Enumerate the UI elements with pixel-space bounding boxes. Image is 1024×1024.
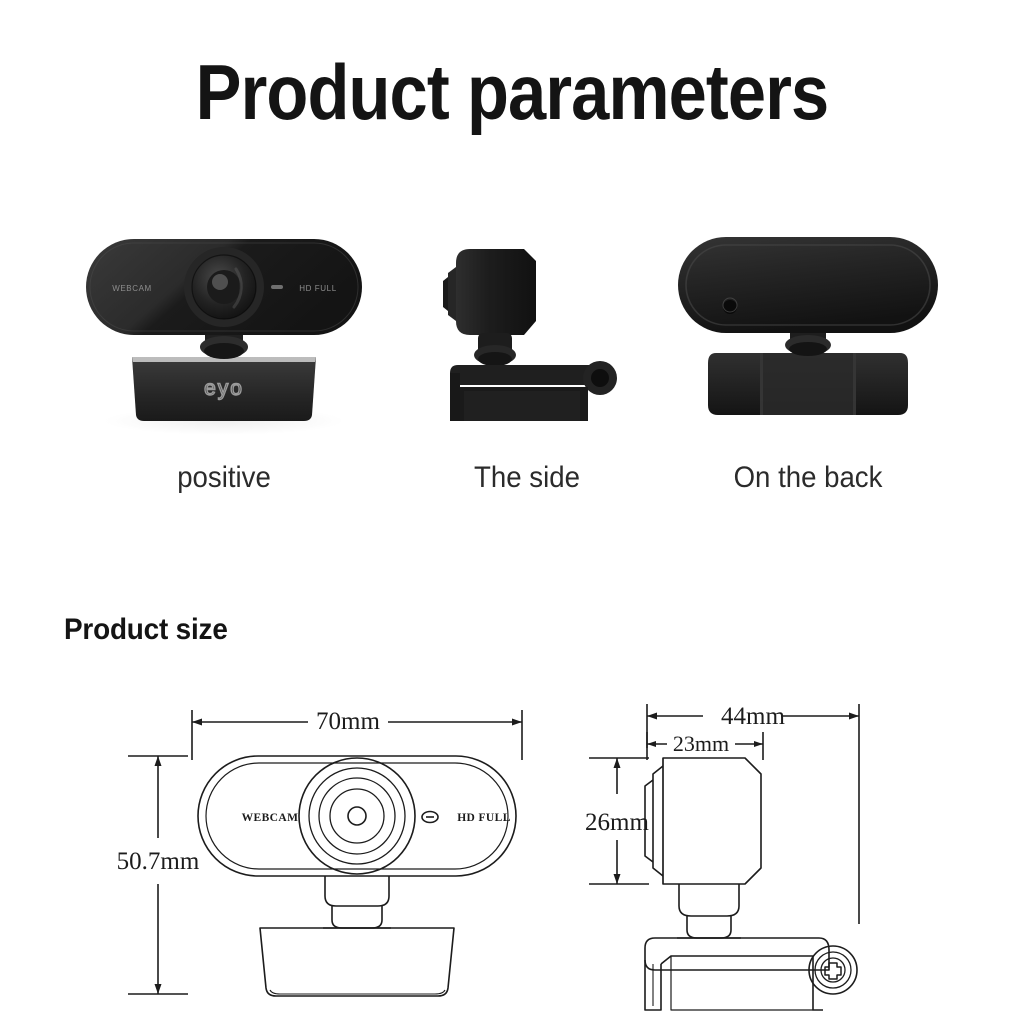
front-photo-stage: eyo WEBCAM HD FU	[74, 225, 374, 440]
mic-icon	[271, 285, 283, 289]
front-drawing-hdfull-label: HD FULL	[457, 812, 511, 824]
product-view-back: On the back	[668, 225, 948, 495]
back-photo-stage	[668, 225, 948, 440]
front-elevation-drawing: WEBCAM HD FULL 70mm 50.7mm	[110, 688, 560, 1024]
front-drawing-mic-icon	[422, 812, 438, 823]
product-size-heading: Product size	[64, 612, 228, 648]
webcam-side-photo-icon	[412, 225, 642, 440]
dimension-label-height: 50.7mm	[117, 848, 200, 875]
dimension-label-body-depth: 23mm	[673, 731, 729, 756]
product-view-back-caption: On the back	[679, 461, 937, 495]
phillips-screw-icon	[825, 963, 841, 979]
webcam-side-line-drawing-icon: 44mm 23mm 26mm	[575, 688, 895, 1024]
webcam-front-photo-icon: eyo WEBCAM HD FU	[74, 225, 374, 440]
front-photo-hdfull-label: HD FULL	[299, 284, 337, 293]
side-photo-stage	[412, 225, 642, 440]
front-drawing-webcam-label: WEBCAM	[242, 812, 299, 824]
product-view-side-caption: The side	[421, 461, 633, 495]
product-view-side: The side	[412, 225, 642, 495]
dimension-label-width: 70mm	[316, 708, 380, 735]
webcam-back-photo-icon	[668, 225, 948, 440]
side-elevation-drawing: 44mm 23mm 26mm	[575, 688, 895, 1024]
base-logo-eyo: eyo	[204, 377, 244, 400]
webcam-front-line-drawing-icon: WEBCAM HD FULL 70mm 50.7mm	[110, 688, 560, 1024]
dimension-label-total-depth: 44mm	[721, 703, 785, 730]
product-view-front-caption: positive	[86, 461, 362, 495]
product-views-row: eyo WEBCAM HD FU	[0, 225, 1024, 495]
front-photo-webcam-label: WEBCAM	[112, 284, 152, 293]
product-parameters-page: { "page": { "title": "Product parameters…	[0, 0, 1024, 1024]
page-title: Product parameters	[61, 48, 962, 136]
product-view-front: eyo WEBCAM HD FU	[74, 225, 374, 495]
dimension-label-body-height: 26mm	[585, 809, 649, 836]
